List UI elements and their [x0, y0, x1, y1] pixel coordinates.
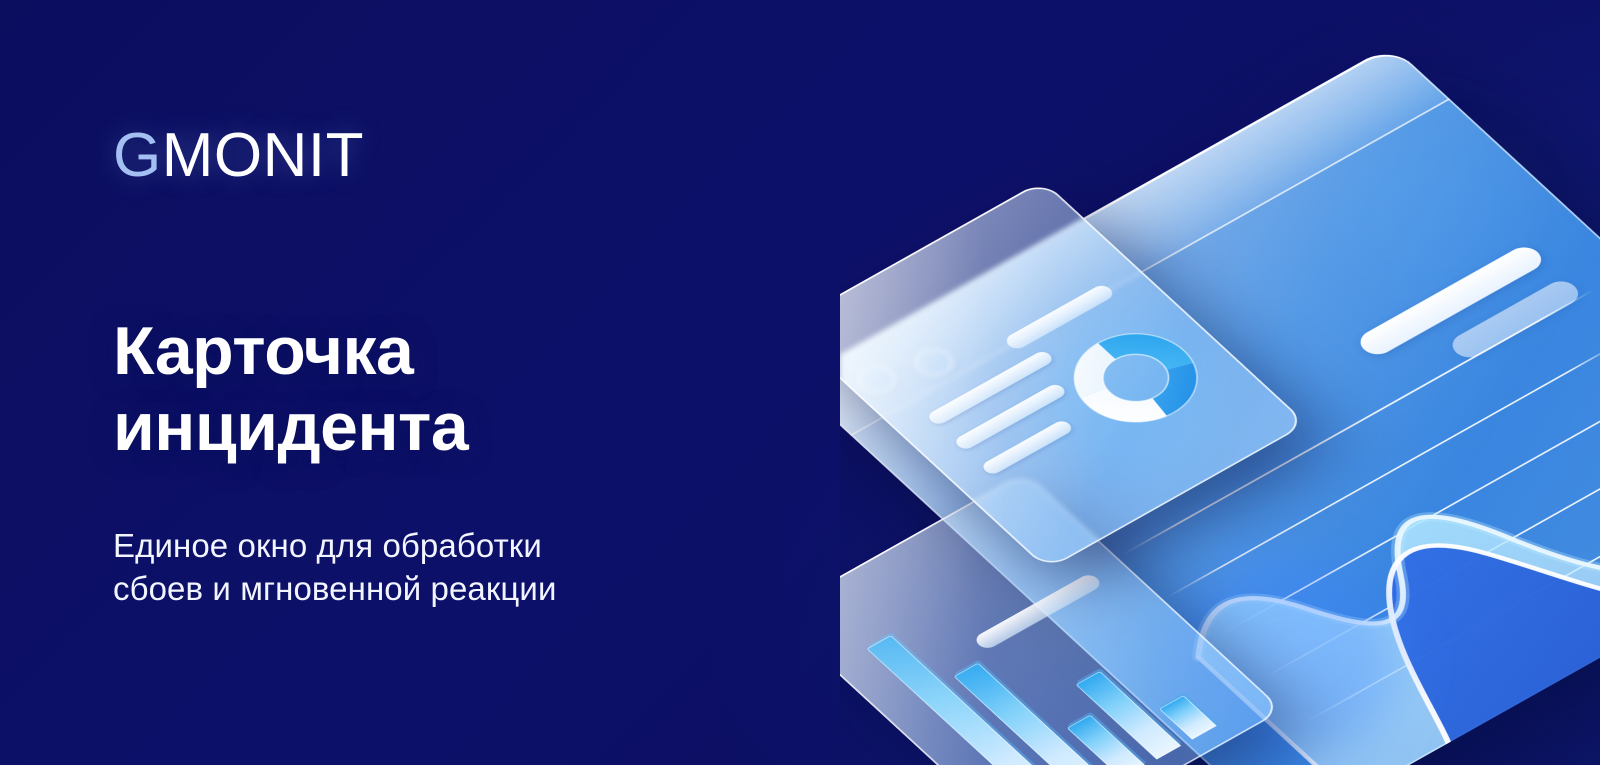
page-subtitle: Единое окно для обработки сбоев и мгнове…	[113, 525, 557, 611]
brand-logo[interactable]: GMONIT	[113, 125, 364, 187]
hero-copy-block: GMONIT Карточка инцидента Единое окно дл…	[113, 0, 813, 765]
logo-wordmark: MONIT	[162, 121, 364, 190]
page-title: Карточка инцидента	[113, 313, 468, 465]
bar-5	[1159, 695, 1217, 739]
hero-banner: GMONIT Карточка инцидента Единое окно дл…	[0, 0, 1600, 765]
logo-letter-g: G	[113, 121, 162, 190]
illustration-stage	[840, 0, 1600, 765]
